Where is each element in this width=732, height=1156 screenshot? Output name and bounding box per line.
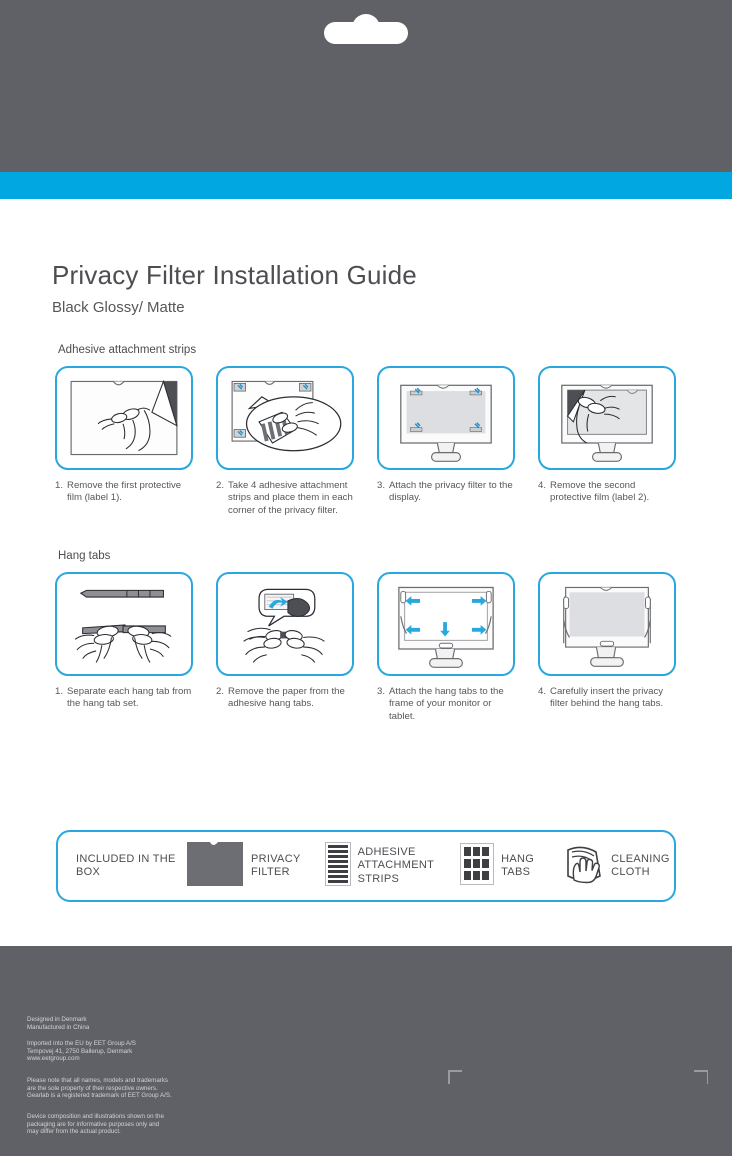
step-illustration-2-4 xyxy=(538,572,676,676)
step-illustration-2-1 xyxy=(55,572,193,676)
page-title: Privacy Filter Installation Guide xyxy=(52,260,417,291)
page-subtitle: Black Glossy/ Matte xyxy=(52,299,185,316)
step-caption-2-3: 3. Attach the hang tabs to the frame of … xyxy=(377,686,517,723)
step-text: Remove the paper from the adhesive hang … xyxy=(228,686,356,711)
step-number: 1. xyxy=(55,480,63,505)
step-caption-2-1: 1. Separate each hang tab from the hang … xyxy=(55,686,195,711)
included-in-the-box-title: INCLUDED IN THE BOX xyxy=(76,853,180,880)
section-label-hang-tabs: Hang tabs xyxy=(58,550,110,562)
step-illustration-2-2 xyxy=(216,572,354,676)
box-item-label: PRIVACY FILTER xyxy=(251,853,301,880)
euro-hanger-hole-icon xyxy=(324,14,408,44)
instruction-card: Privacy Filter Installation Guide Black … xyxy=(0,199,732,946)
step-illustration-2-3 xyxy=(377,572,515,676)
step-illustration-1-3 xyxy=(377,366,515,470)
footer-origin: Designed in Denmark Manufactured in Chin… xyxy=(27,1016,89,1031)
step-text: Attach the hang tabs to the frame of you… xyxy=(389,686,517,723)
registration-mark-right xyxy=(694,1070,708,1084)
step-illustration-1-4 xyxy=(538,366,676,470)
footer-disclaimer: Device composition and illustrations sho… xyxy=(27,1113,164,1136)
adhesive-strips-icon xyxy=(325,842,351,891)
privacy-filter-icon xyxy=(186,841,244,892)
box-item-label: ADHESIVE ATTACHMENT STRIPS xyxy=(358,846,435,887)
step-number: 4. xyxy=(538,686,546,711)
step-text: Remove the second protective film (label… xyxy=(550,480,678,505)
step-number: 2. xyxy=(216,480,224,517)
package-header xyxy=(0,0,732,172)
footer-trademark-notice: Please note that all names, models and t… xyxy=(27,1077,172,1100)
included-in-the-box-bar: INCLUDED IN THE BOX PRIVACY FILTER xyxy=(56,830,676,902)
step-text: Remove the first protective film (label … xyxy=(67,480,195,505)
step-caption-1-2: 2. Take 4 adhesive attachment strips and… xyxy=(216,480,356,517)
registration-mark-left xyxy=(448,1070,462,1084)
section-label-adhesive-strips: Adhesive attachment strips xyxy=(58,344,196,356)
box-item-hang-tabs: HANG TABS xyxy=(460,843,534,890)
euro-hole-bar xyxy=(324,22,408,44)
step-text: Attach the privacy filter to the display… xyxy=(389,480,517,505)
step-illustration-1-1 xyxy=(55,366,193,470)
step-text: Take 4 adhesive attachment strips and pl… xyxy=(228,480,356,517)
box-item-label: CLEANING CLOTH xyxy=(611,853,670,880)
step-text: Carefully insert the privacy filter behi… xyxy=(550,686,678,711)
step-caption-1-4: 4. Remove the second protective film (la… xyxy=(538,480,678,505)
step-number: 3. xyxy=(377,480,385,505)
hang-tabs-icon xyxy=(460,843,494,890)
step-illustration-1-2 xyxy=(216,366,354,470)
cleaning-cloth-icon xyxy=(560,842,604,891)
step-number: 1. xyxy=(55,686,63,711)
step-number: 4. xyxy=(538,480,546,505)
step-caption-2-4: 4. Carefully insert the privacy filter b… xyxy=(538,686,678,711)
step-number: 3. xyxy=(377,686,385,723)
step-caption-2-2: 2. Remove the paper from the adhesive ha… xyxy=(216,686,356,711)
box-item-label: HANG TABS xyxy=(501,853,534,880)
box-item-adhesive-strips: ADHESIVE ATTACHMENT STRIPS xyxy=(325,842,435,891)
step-caption-1-1: 1. Remove the first protective film (lab… xyxy=(55,480,195,505)
accent-band xyxy=(0,172,732,199)
step-number: 2. xyxy=(216,686,224,711)
footer-importer: Imported into the EU by EET Group A/S Te… xyxy=(27,1040,136,1063)
box-item-privacy-filter: PRIVACY FILTER xyxy=(186,841,301,892)
step-caption-1-3: 3. Attach the privacy filter to the disp… xyxy=(377,480,517,505)
box-item-cleaning-cloth: CLEANING CLOTH xyxy=(560,842,670,891)
step-text: Separate each hang tab from the hang tab… xyxy=(67,686,195,711)
